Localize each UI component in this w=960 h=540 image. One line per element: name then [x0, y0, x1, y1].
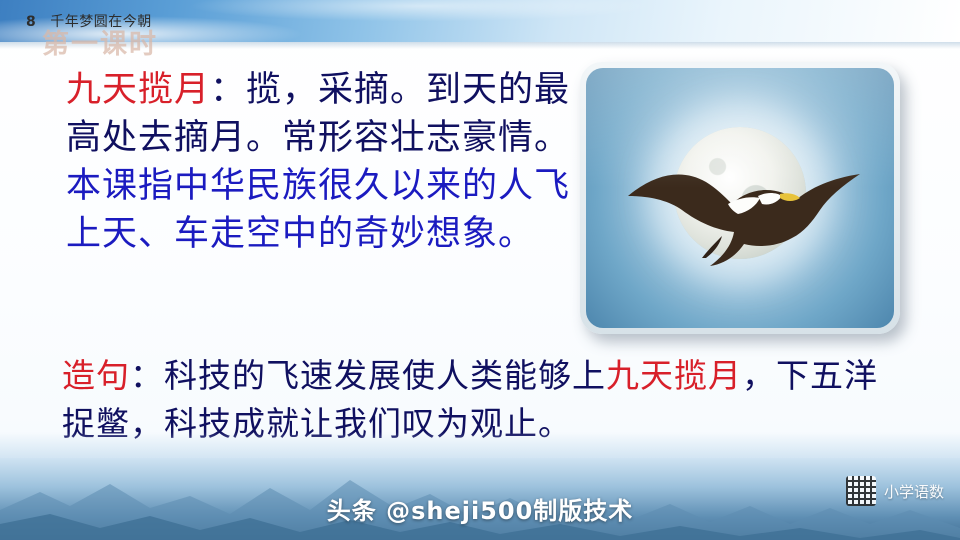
example-highlight: 九天揽月: [606, 356, 742, 395]
watermark-right-label: 小学语数: [884, 481, 944, 502]
bottom-band: 头条 @sheji500制版技术: [0, 458, 960, 540]
eagle-moon-photo: [586, 68, 894, 328]
breadcrumb-number: 8: [26, 14, 36, 30]
breadcrumb: 8千年梦圆在今朝: [26, 11, 152, 31]
example-label: 造句: [62, 356, 130, 395]
qr-code-icon: [846, 476, 876, 506]
watermark-center: 头条 @sheji500制版技术: [0, 491, 960, 526]
eagle-icon: [620, 134, 872, 274]
example-colon: ：: [130, 356, 164, 395]
term-highlight: 九天揽月: [66, 70, 210, 110]
example-text-before: 科技的飞速发展使人类能够上: [164, 356, 606, 395]
term-colon: ：: [210, 70, 246, 110]
bottom-fade: [0, 432, 960, 458]
breadcrumb-title: 千年梦圆在今朝: [50, 14, 152, 30]
watermark-right: 小学语数: [846, 476, 944, 506]
definition-paragraph: 九天揽月：揽，采摘。到天的最高处去摘月。常形容壮志豪情。本课指中华民族很久以来的…: [66, 66, 578, 258]
usage-note-text: 本课指中华民族很久以来的人飞上天、车走空中的奇妙想象。: [66, 166, 570, 254]
slide: 8千年梦圆在今朝 第一课时 九天揽月：揽，采摘。到天的最高处去摘月。常形容壮志豪…: [0, 0, 960, 540]
image-frame: [580, 62, 900, 334]
